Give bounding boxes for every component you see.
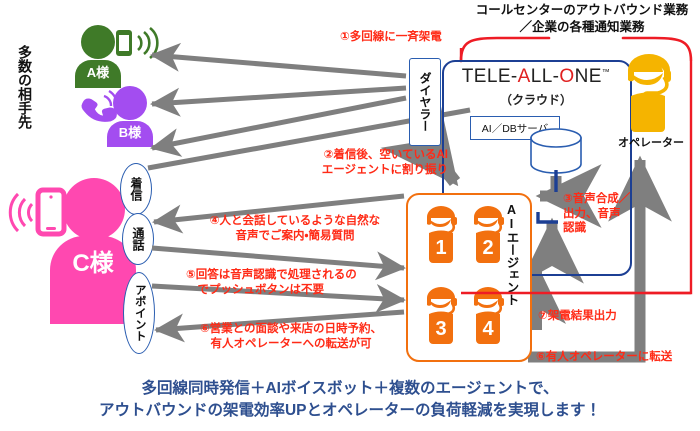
dialer-box[interactable]: ダイヤラー — [409, 58, 441, 146]
annotation-1: ①多回線に一斉架電 — [340, 30, 442, 45]
annotation-8-transfer: ⑥有人オペレーターに転送 — [536, 350, 672, 365]
annotation-3: ③音声合成／ 出力、音声 認識 — [563, 192, 633, 236]
annotation-6: ⑥営業との面談や来店の日時予約、 有人オペレーターへの転送が可 — [188, 322, 394, 351]
diagram-canvas: コールセンターのアウトバウンド業務 ／企業の各種通知業務 多数の相手先 A様 B… — [0, 0, 700, 431]
annotation-4: ④人と会話しているような自然な 音声でご案内・簡易質問 — [196, 214, 394, 243]
dialer-label: ダイヤラー — [419, 72, 431, 132]
annotation-7: ⑦架電結果出力 — [538, 309, 617, 324]
annotation-5: ⑤回答は音声認識で処理されるの でプッシュボタンは不要 — [186, 268, 396, 297]
footer-summary: 多回線同時発信＋AIボイスボット＋複数のエージェントで、 アウトバウンドの架電効… — [40, 378, 660, 423]
cloud-internal-links — [442, 60, 642, 290]
annotation-2: ②着信後、空いているAI エージェントに割り振り — [276, 148, 448, 177]
